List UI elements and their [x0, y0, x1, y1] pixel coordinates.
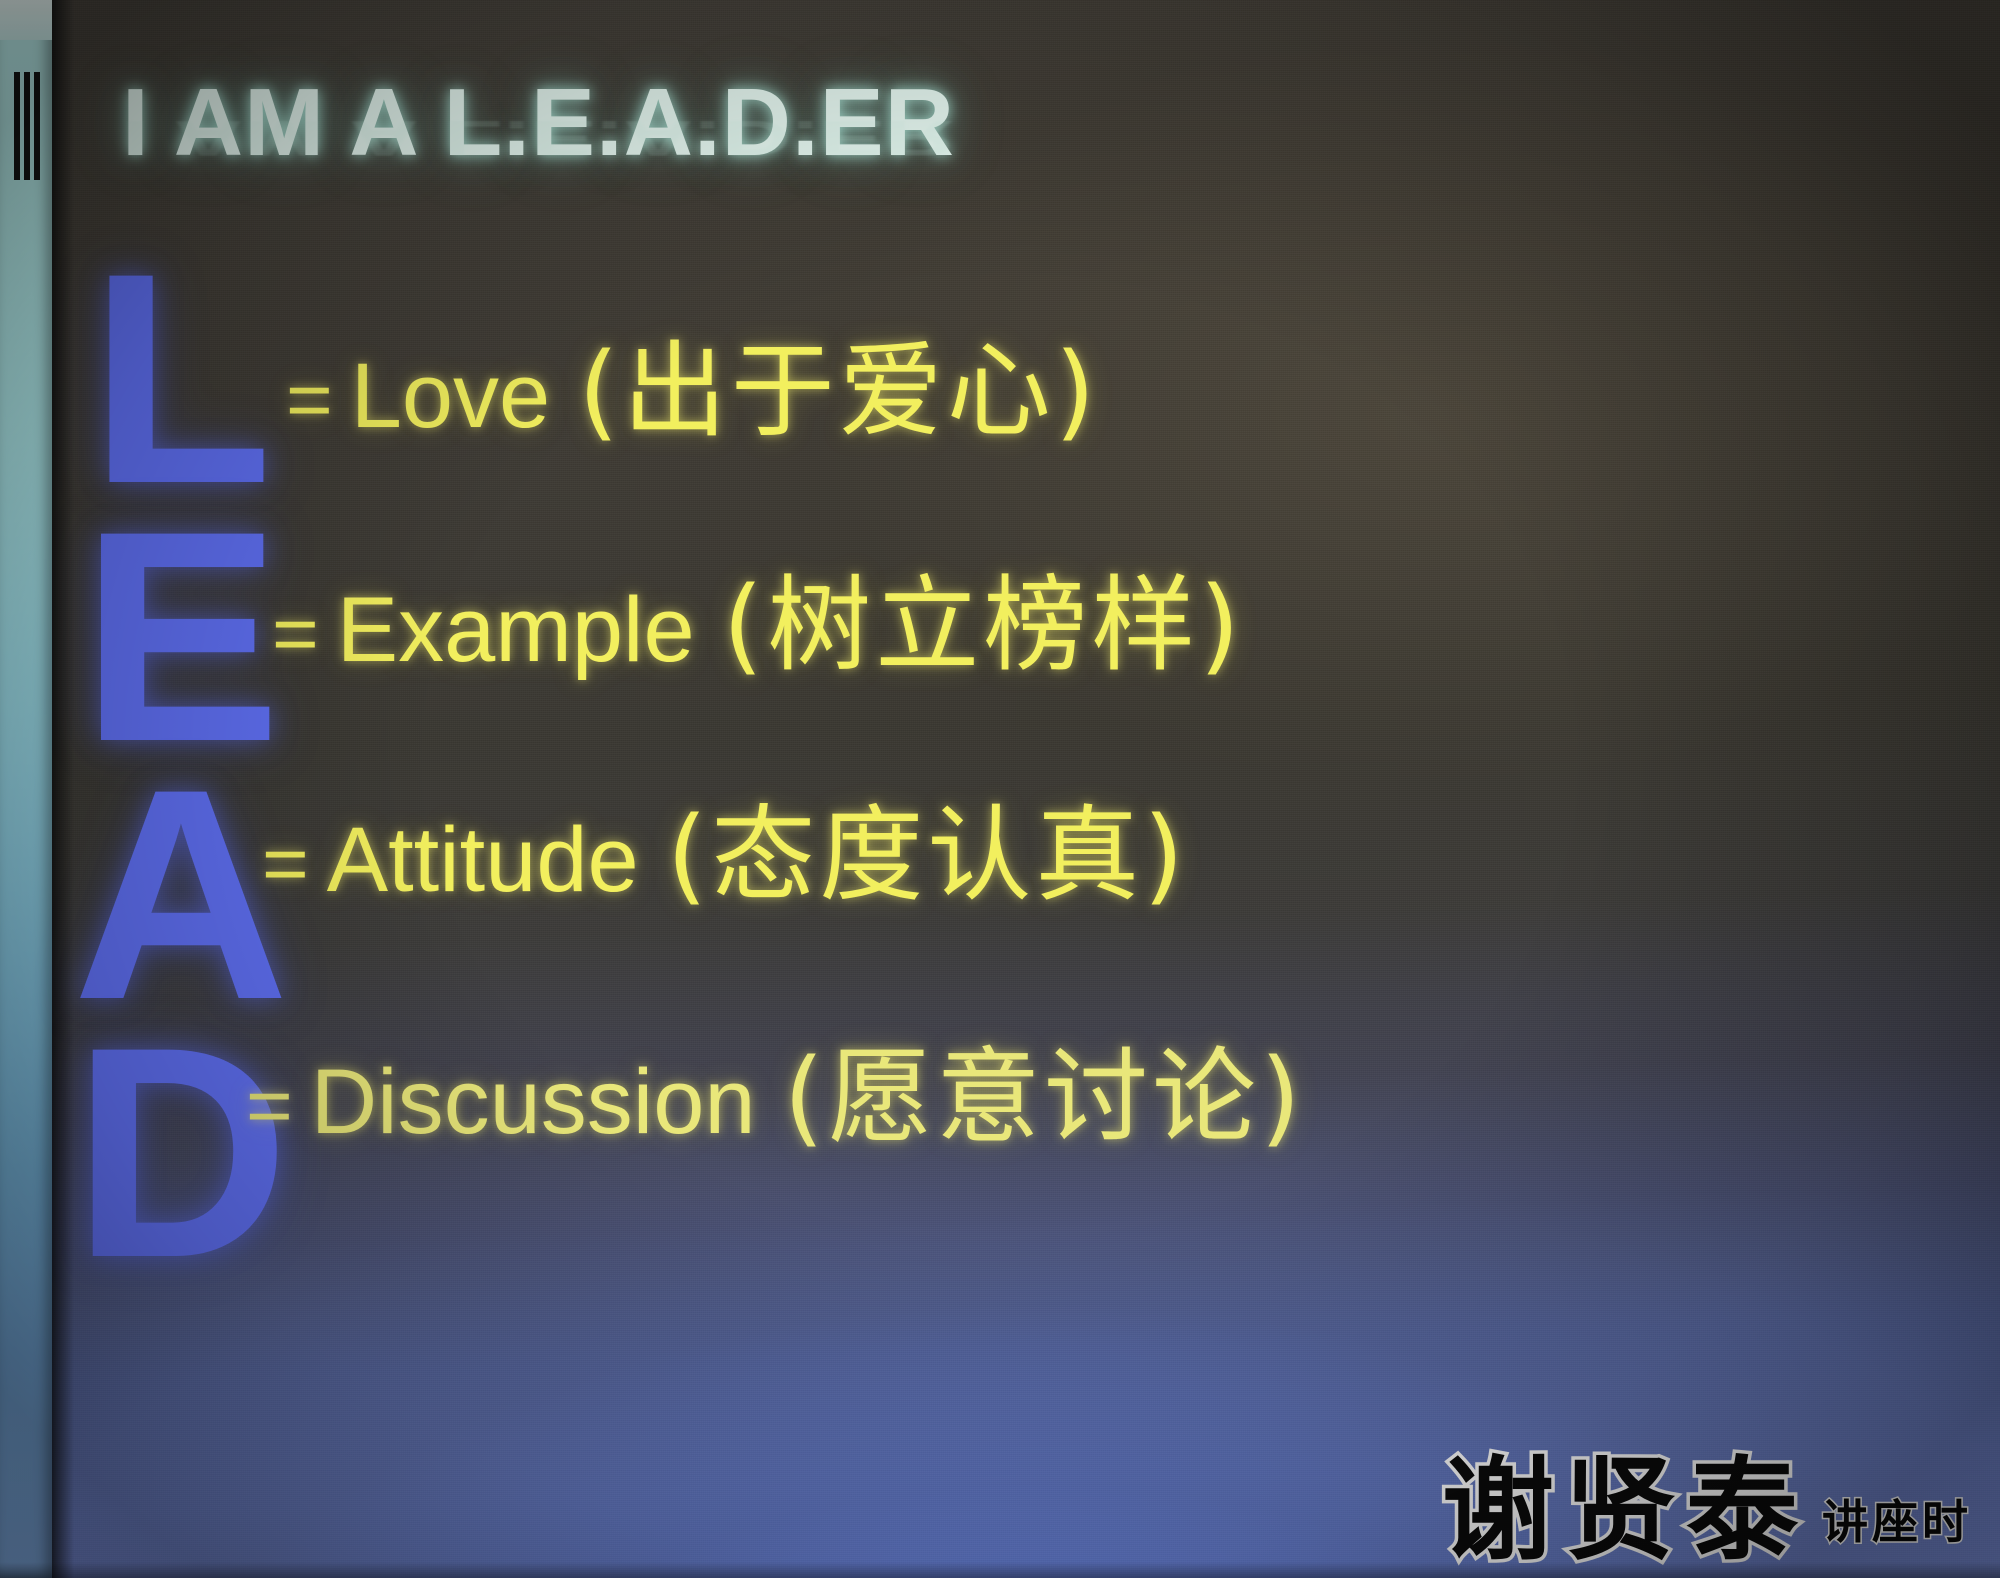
acronym-row-love: = Love (出于爱心)	[286, 306, 1099, 457]
equals-sign-attitude: =	[262, 818, 309, 910]
equals-sign-love: =	[286, 354, 333, 446]
acronym-chinese-example: (树立榜样)	[723, 540, 1244, 691]
acronym-chinese-discussion: (愿意讨论)	[784, 1012, 1305, 1163]
speaker-watermark: 谢贤泰 讲座时	[1442, 1454, 1972, 1568]
acronym-english-example: Example	[337, 578, 695, 683]
acronym-chinese-attitude: (态度认真)	[667, 770, 1188, 921]
equals-sign-example: =	[272, 588, 319, 680]
acronym-row-discussion: = Discussion (愿意讨论)	[246, 1012, 1305, 1163]
acronym-english-attitude: Attitude	[327, 808, 639, 913]
watermark-subtitle: 讲座时	[1822, 1486, 1972, 1552]
acronym-definition-list: = Love (出于爱心) = Example (树立榜样) = Attitud…	[0, 0, 2000, 1578]
acronym-english-love: Love	[351, 344, 551, 449]
equals-sign-discussion: =	[246, 1060, 293, 1152]
acronym-row-attitude: = Attitude (态度认真)	[262, 770, 1188, 921]
watermark-speaker-name: 谢贤泰	[1442, 1454, 1808, 1568]
projected-slide-photo: I AM A L.E.A.D.ER I AM A L.E.A.D.ER L E …	[0, 0, 2000, 1578]
acronym-row-example: = Example (树立榜样)	[272, 540, 1244, 691]
acronym-chinese-love: (出于爱心)	[578, 306, 1099, 457]
acronym-english-discussion: Discussion	[311, 1050, 756, 1155]
